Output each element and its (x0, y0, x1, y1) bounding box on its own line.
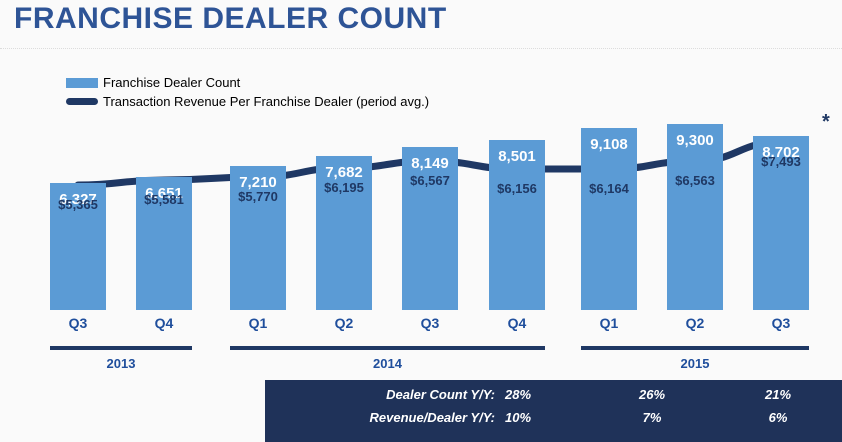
table-row-label: Dealer Count Y/Y: (265, 387, 495, 402)
bar-value-label: 7,682 (316, 164, 372, 181)
x-axis-quarter-label: Q4 (489, 315, 545, 331)
year-group-rule (50, 346, 192, 350)
table-cell: 10% (483, 410, 553, 425)
bar-column: 9,300 (667, 124, 723, 310)
revenue-value-label: $6,563 (665, 173, 725, 188)
table-row: Revenue/Dealer Y/Y: 10%7%6%14% (265, 410, 842, 431)
bar (489, 140, 545, 310)
title-divider (0, 48, 842, 50)
legend-item-dealer-count: Franchise Dealer Count (66, 73, 429, 92)
revenue-value-label: $6,156 (487, 181, 547, 196)
table-row: Dealer Count Y/Y: 28%26%21%7% (265, 387, 842, 408)
x-axis-quarter-label: Q4 (136, 315, 192, 331)
bar (581, 128, 637, 310)
bar-value-label: 9,108 (581, 136, 637, 153)
x-axis-quarter-label: Q1 (230, 315, 286, 331)
year-group-rule (230, 346, 545, 350)
year-group-label: 2013 (50, 356, 192, 371)
x-axis-quarter-label: Q2 (667, 315, 723, 331)
bar-column: 8,149 (402, 147, 458, 310)
bar-value-label: 9,300 (667, 132, 723, 149)
x-axis-quarter-label: Q3 (402, 315, 458, 331)
bar-column: 7,210 (230, 166, 286, 310)
bar-column: 9,108 (581, 128, 637, 310)
x-axis-quarter-label: Q3 (50, 315, 106, 331)
revenue-value-label: $7,493 (751, 154, 811, 169)
table-cell: 26% (617, 387, 687, 402)
year-group-rule (581, 346, 809, 350)
revenue-value-label: $5,581 (134, 192, 194, 207)
chart-plot-area: 6,3276,6517,2107,6828,1498,5019,1089,300… (0, 100, 842, 310)
page-title: FRANCHISE DEALER COUNT (14, 2, 447, 36)
revenue-value-label: $5,365 (48, 197, 108, 212)
table-cell: 7% (617, 410, 687, 425)
asterisk-note: * (822, 112, 830, 132)
year-group-label: 2014 (230, 356, 545, 371)
bar (667, 124, 723, 310)
year-group-label: 2015 (581, 356, 809, 371)
bar-column: 8,501 (489, 140, 545, 310)
revenue-value-label: $6,195 (314, 180, 374, 195)
legend-label-dealer-count: Franchise Dealer Count (103, 75, 240, 90)
revenue-value-label: $6,164 (579, 181, 639, 196)
table-row-label: Revenue/Dealer Y/Y: (265, 410, 495, 425)
bar-value-label: 8,501 (489, 148, 545, 165)
yoy-table: Dealer Count Y/Y: 28%26%21%7% Revenue/De… (265, 380, 842, 442)
revenue-value-label: $5,770 (228, 189, 288, 204)
x-axis-quarter-label: Q1 (581, 315, 637, 331)
x-axis-quarter-label: Q2 (316, 315, 372, 331)
legend-bar-swatch-icon (66, 78, 98, 88)
bar-value-label: 8,149 (402, 155, 458, 172)
table-cell: 6% (743, 410, 813, 425)
table-cell: 21% (743, 387, 813, 402)
x-axis-quarter-label: Q3 (753, 315, 809, 331)
revenue-value-label: $6,567 (400, 173, 460, 188)
chart-x-axis: Q3Q4Q1Q2Q3Q4Q1Q2Q3201320142015 (0, 310, 842, 380)
table-cell: 28% (483, 387, 553, 402)
